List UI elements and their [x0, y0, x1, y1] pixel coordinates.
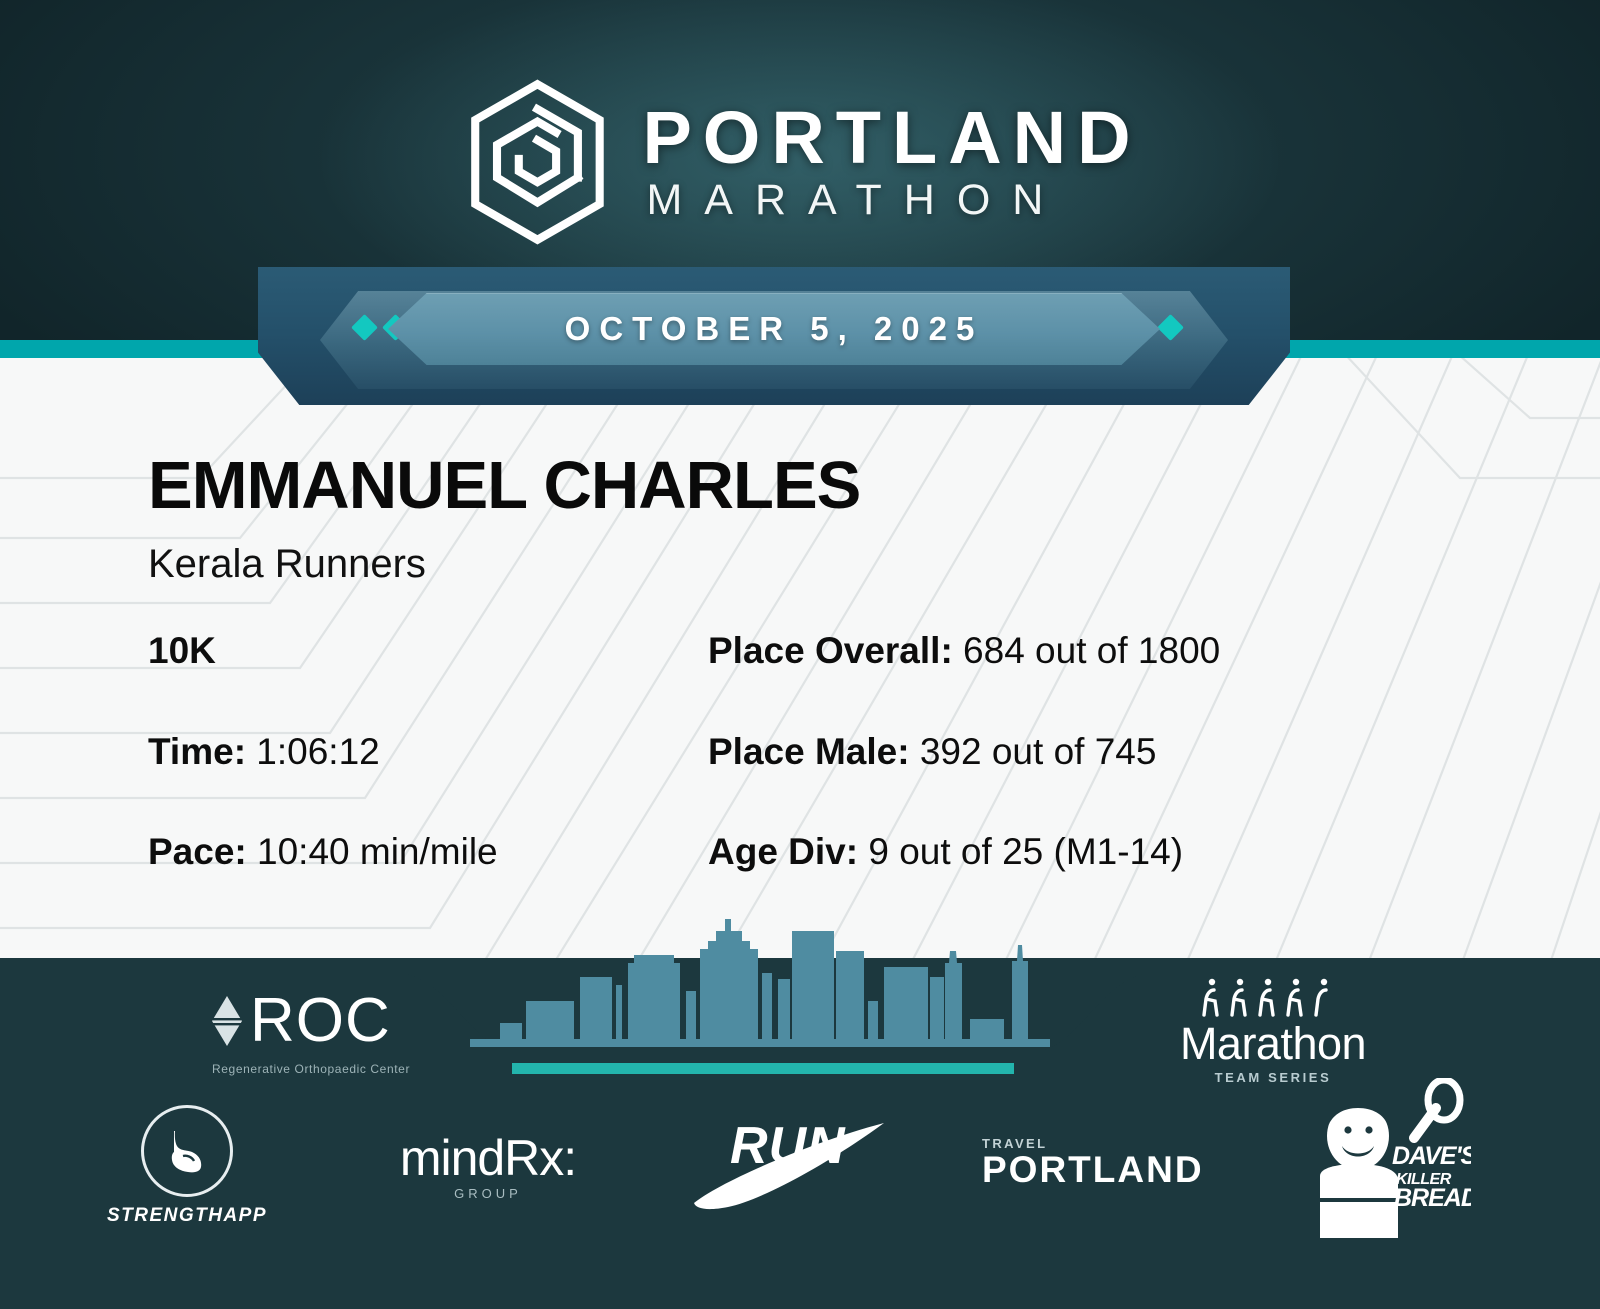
flexed-bicep-icon	[161, 1125, 213, 1177]
date-ribbon-inner: OCTOBER 5, 2025	[388, 293, 1160, 365]
sponsor-mindrx: mindRx: GROUP	[378, 1133, 598, 1201]
event-logo-text: PORTLAND MARATHON	[642, 102, 1141, 222]
stat-pace-label: Pace:	[148, 831, 247, 872]
stat-place-overall-label: Place Overall:	[708, 630, 953, 671]
sponsor-nike-run: RUN	[688, 1105, 898, 1215]
stat-time-label: Time:	[148, 731, 246, 772]
event-title: PORTLAND	[642, 102, 1141, 175]
roc-diamond-icon	[210, 994, 244, 1048]
stat-pace-value: 10:40 min/mile	[257, 831, 498, 872]
sponsor-mindrx-name: mindRx:	[378, 1133, 598, 1183]
stat-age-div-value: 9 out of 25 (M1-14)	[868, 831, 1183, 872]
sponsor-strengthapp-name: STRENGTHAPP	[92, 1205, 282, 1227]
stat-distance: 10K	[148, 630, 708, 673]
sponsor-mts-name: Marathon	[1163, 1021, 1383, 1066]
stat-place-overall: Place Overall: 684 out of 1800	[708, 630, 1428, 673]
sponsor-roc-tagline: Regenerative Orthopaedic Center	[212, 1062, 410, 1076]
stat-time-value: 1:06:12	[256, 731, 379, 772]
diamond-icon	[1157, 314, 1184, 341]
stat-place-male-label: Place Male:	[708, 731, 910, 772]
svg-text:BREAD: BREAD	[1394, 1184, 1471, 1212]
skyline-teal-line	[512, 1063, 1014, 1074]
stat-pace: Pace: 10:40 min/mile	[148, 831, 708, 874]
daves-killer-bread-mascot-icon: DAVE'S KILLER BREAD	[1296, 1078, 1471, 1243]
sponsor-marathon-team-series: Marathon TEAM SERIES	[1163, 975, 1383, 1085]
sponsor-daves-killer-bread: DAVE'S KILLER BREAD	[1296, 1078, 1471, 1243]
svg-text:DAVE'S: DAVE'S	[1392, 1142, 1471, 1170]
hexagon-spiral-icon	[458, 78, 616, 246]
sponsor-strengthapp: STRENGTHAPP	[92, 1105, 282, 1227]
runner-team: Kerala Runners	[148, 542, 426, 587]
stat-place-overall-value: 684 out of 1800	[963, 630, 1220, 671]
sponsor-travel-portland-big: PORTLAND	[982, 1151, 1202, 1190]
stat-place-male: Place Male: 392 out of 745	[708, 731, 1428, 774]
running-figures-icon	[1198, 975, 1348, 1019]
stat-place-male-value: 392 out of 745	[920, 731, 1157, 772]
sponsor-travel-portland: TRAVEL PORTLAND	[982, 1136, 1202, 1190]
nike-swoosh-icon: RUN	[688, 1105, 898, 1215]
sponsor-mindrx-sub: GROUP	[378, 1186, 598, 1201]
stat-time: Time: 1:06:12	[148, 731, 708, 774]
sponsor-roc-name: ROC	[250, 992, 391, 1049]
sponsor-strengthapp-circle	[141, 1105, 233, 1197]
stat-age-div: Age Div: 9 out of 25 (M1-14)	[708, 831, 1428, 874]
sponsor-roc: ROC	[210, 992, 391, 1049]
event-subtitle: MARATHON	[642, 179, 1141, 222]
race-result-certificate: PORTLAND MARATHON	[0, 0, 1600, 1309]
event-date: OCTOBER 5, 2025	[565, 310, 984, 348]
stat-age-div-label: Age Div:	[708, 831, 858, 872]
results-grid: 10K Place Overall: 684 out of 1800 Time:…	[148, 630, 1428, 874]
runner-name: EMMANUEL CHARLES	[148, 452, 860, 519]
stat-distance-label: 10K	[148, 630, 216, 671]
diamond-icon	[351, 314, 378, 341]
event-logo-lockup: PORTLAND MARATHON	[458, 78, 1141, 246]
